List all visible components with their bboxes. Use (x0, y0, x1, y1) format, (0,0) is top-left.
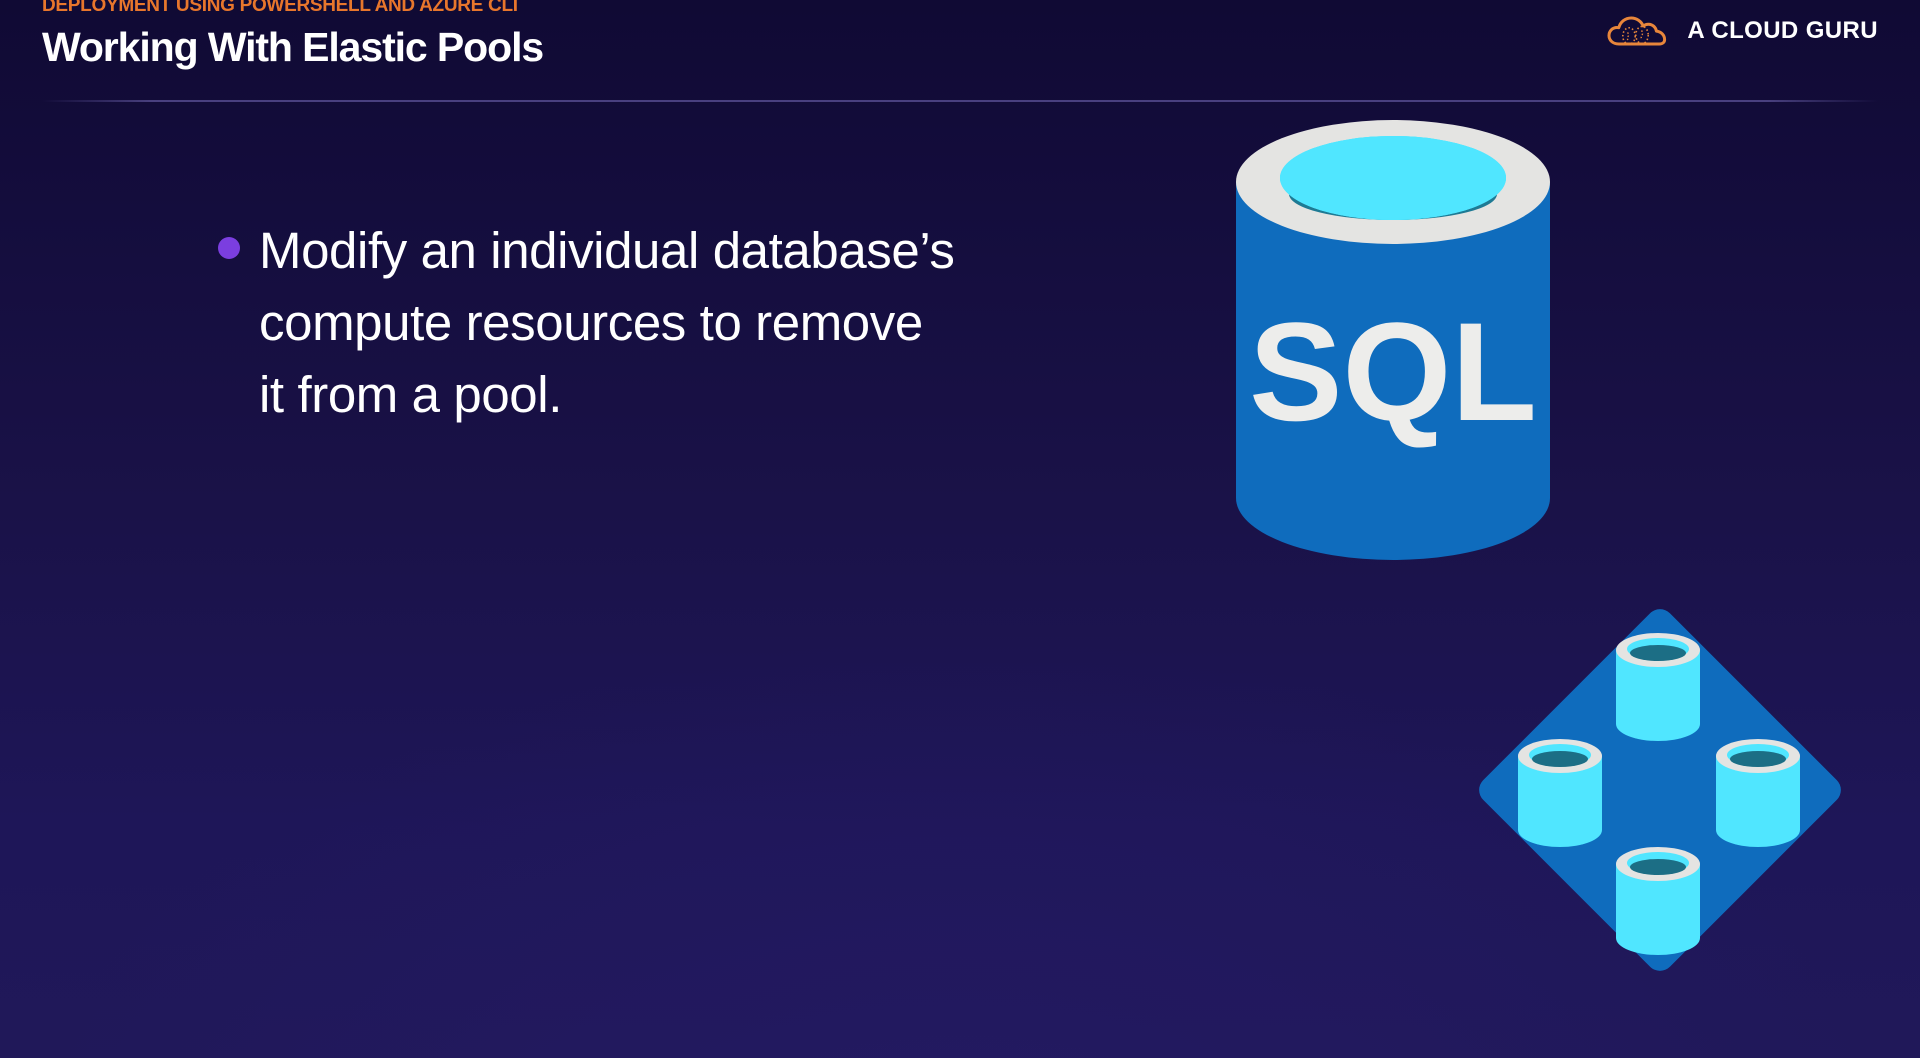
list-item: Modify an individual database’s compute … (218, 215, 958, 431)
bullet-dot-icon (218, 237, 240, 259)
header-divider (42, 100, 1878, 102)
course-kicker: DEPLOYMENT USING POWERSHELL AND AZURE CL… (42, 0, 518, 17)
page-title: Working With Elastic Pools (42, 24, 543, 71)
azure-sql-database-cylinder-icon: SQL (1228, 120, 1558, 560)
bullet-text: Modify an individual database’s compute … (259, 215, 958, 431)
sql-label: SQL (1249, 293, 1537, 450)
cloud-guru-cloud-icon (1607, 14, 1673, 48)
brand-name: A CLOUD GURU (1687, 17, 1878, 45)
bullet-list: Modify an individual database’s compute … (218, 215, 958, 431)
azure-sql-elastic-pool-diamond-icon (1440, 560, 1880, 1020)
slide-header: DEPLOYMENT USING POWERSHELL AND AZURE CL… (0, 0, 1920, 104)
brand-lockup: A CLOUD GURU (1607, 14, 1878, 48)
